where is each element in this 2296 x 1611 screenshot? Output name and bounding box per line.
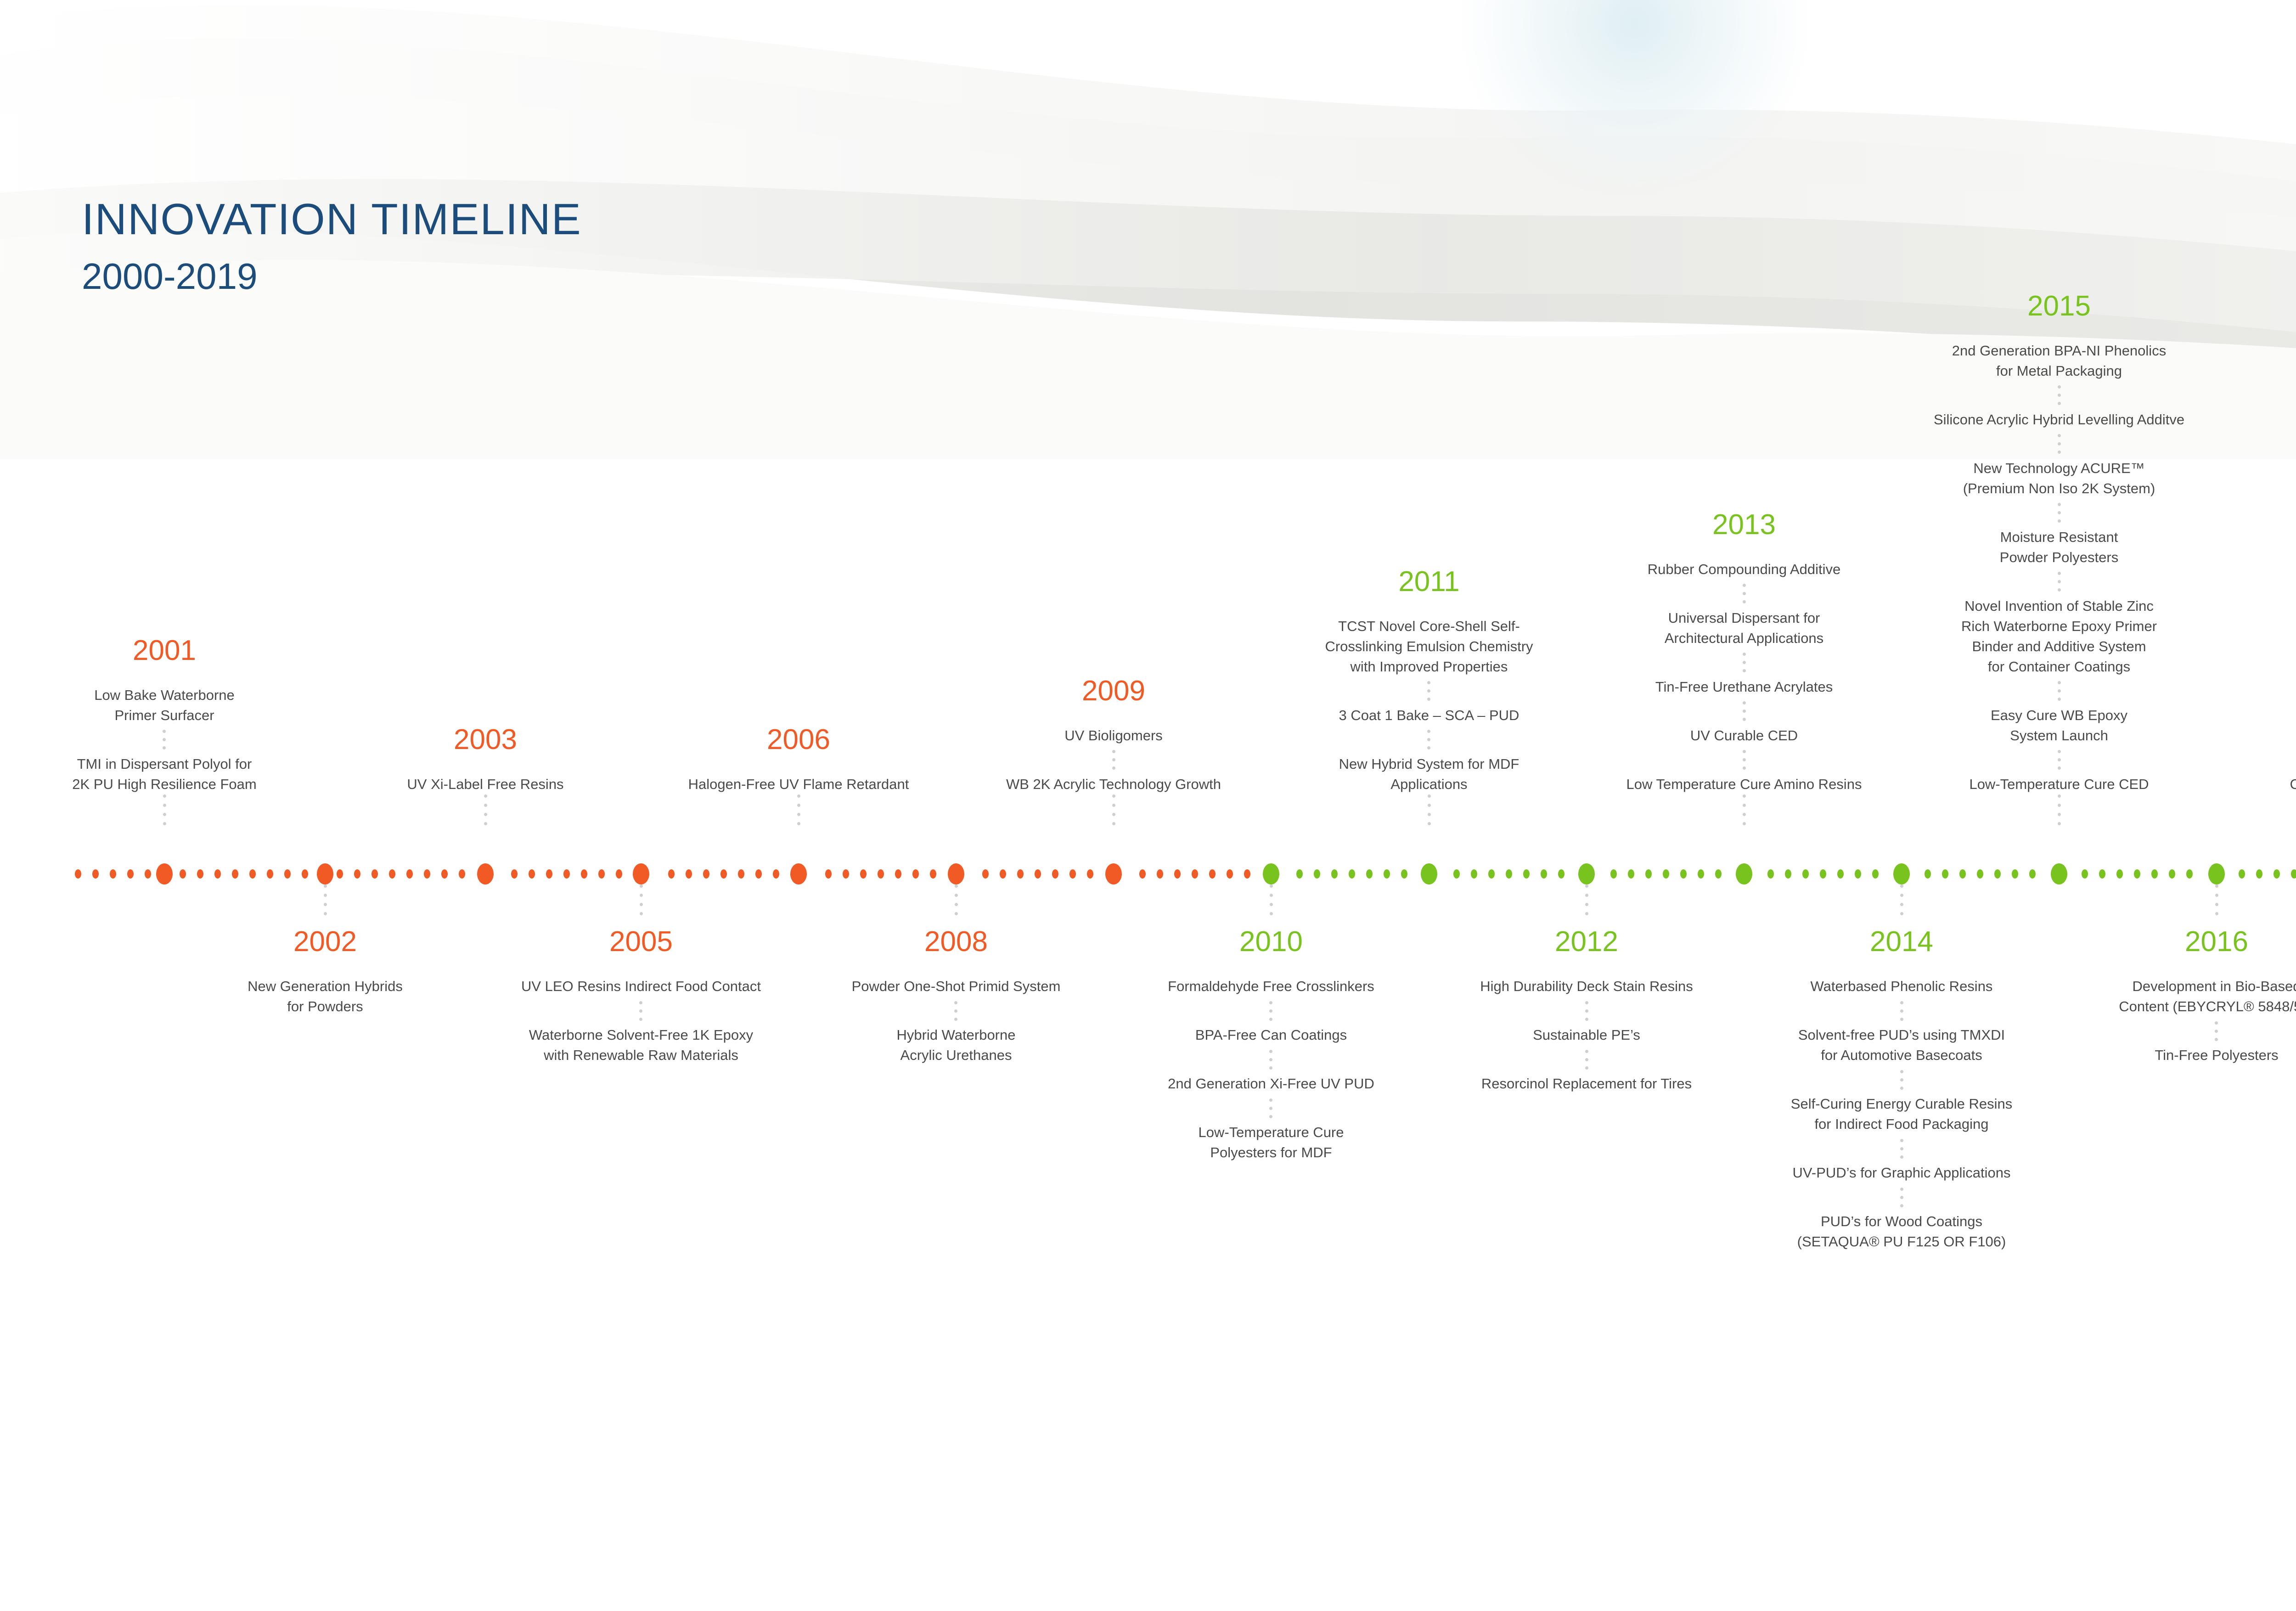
- event-list-2005: UV LEO Resins Indirect Food ContactWater…: [521, 976, 761, 1065]
- axis-tick-dot: [92, 869, 99, 879]
- axis-tick-dot: [546, 869, 552, 879]
- event-text: Resorcinol Replacement for Tires: [1480, 1074, 1693, 1094]
- connector-dot: [1743, 758, 1746, 761]
- connector-dot: [163, 822, 166, 825]
- year-label-2012: 2012: [1555, 928, 1618, 956]
- axis-tick-dot: [1715, 869, 1722, 879]
- axis-connector-2009: [1112, 794, 1115, 863]
- connector-dot: [1900, 1087, 1903, 1090]
- axis-tick-dot: [284, 869, 291, 879]
- axis-tick-dot: [1314, 869, 1320, 879]
- axis-tick-dot: [1488, 869, 1495, 879]
- connector-2015-3: [1934, 499, 2184, 527]
- axis-tick-dot: [1174, 869, 1181, 879]
- connector-dot: [163, 804, 166, 807]
- event-text: Universal Dispersant forArchitectural Ap…: [1626, 608, 1862, 648]
- axis-tick-dot: [75, 869, 81, 879]
- event-text: Cobalt-Free Drier Systems: [2290, 774, 2296, 794]
- timeline-entry-2010[interactable]: 2010Formaldehyde Free CrosslinkersBPA-Fr…: [1129, 928, 1413, 1163]
- axis-connector-2002: [324, 884, 327, 926]
- connector-dot: [955, 912, 958, 915]
- axis-tick-dot: [1942, 869, 1948, 879]
- connector-dot: [1270, 894, 1273, 897]
- timeline-axis: [0, 863, 2296, 884]
- axis-tick-dot: [1192, 869, 1198, 879]
- connector-2016-1: [2119, 1017, 2296, 1045]
- axis-connector-2008: [955, 884, 958, 926]
- connector-2005-1: [521, 997, 761, 1025]
- timeline-node-2003[interactable]: [477, 863, 494, 884]
- connector-dot: [1269, 1115, 1272, 1118]
- connector-dot: [1112, 758, 1115, 761]
- connector-dot: [2058, 511, 2061, 514]
- connector-dot: [1112, 794, 1115, 798]
- connector-dot: [2058, 689, 2061, 693]
- connector-dot: [1900, 884, 1903, 888]
- connector-dot: [1900, 1155, 1903, 1159]
- axis-tick-dot: [1035, 869, 1041, 879]
- event-text: Development in Bio-BasedContent (EBYCRYL…: [2119, 976, 2296, 1017]
- timeline-entry-2008[interactable]: 2008Powder One-Shot Primid SystemHybrid …: [837, 928, 1075, 1065]
- axis-tick-dot: [337, 869, 343, 879]
- connector-dot: [1269, 1050, 1272, 1053]
- axis-tick-dot: [686, 869, 692, 879]
- event-text: New Technology ACURE™(Premium Non Iso 2K…: [1934, 458, 2184, 499]
- connector-dot: [1900, 1009, 1903, 1013]
- connector-dot: [1427, 689, 1430, 693]
- connector-dot: [2215, 1021, 2218, 1025]
- timeline-entry-2016[interactable]: 2016Development in Bio-BasedContent (EBY…: [2074, 928, 2296, 1065]
- connector-2010-1: [1168, 997, 1374, 1025]
- axis-tick-dot: [2134, 869, 2140, 879]
- event-list-2014: Waterbased Phenolic ResinsSolvent-free P…: [1791, 976, 2012, 1252]
- connector-dot: [1585, 1066, 1588, 1070]
- axis-tick-dot: [1000, 869, 1006, 879]
- connector-dot: [2058, 794, 2061, 798]
- axis-tick-dot: [1994, 869, 2001, 879]
- timeline-entry-2017[interactable]: 2017Cobalt-Free Drier Systems: [2245, 0, 2296, 794]
- connector-dot: [2058, 385, 2061, 389]
- axis-tick-dot: [1628, 869, 1634, 879]
- connector-2012-1: [1480, 997, 1693, 1025]
- axis-tick-dot: [1837, 869, 1844, 879]
- event-text: Low Bake WaterbornePrimer Surfacer: [72, 685, 256, 726]
- connector-dot: [163, 794, 166, 798]
- timeline-node-2011[interactable]: [1421, 863, 1437, 884]
- axis-tick-dot: [1244, 869, 1250, 879]
- connector-dot: [1743, 669, 1746, 672]
- event-text: Solvent-free PUD’s using TMXDIfor Automo…: [1791, 1025, 2012, 1065]
- connector-dot: [954, 1009, 957, 1013]
- event-text: Waterbased Phenolic Resins: [1791, 976, 2012, 997]
- event-text: Rubber Compounding Additive: [1626, 559, 1862, 580]
- axis-tick-dot: [2273, 869, 2280, 879]
- connector-dot: [1427, 681, 1430, 684]
- connector-dot: [1900, 894, 1903, 897]
- connector-dot: [1900, 1188, 1903, 1191]
- timeline-entry-2002[interactable]: 2002New Generation Hybridsfor Powders: [206, 928, 445, 1017]
- connector-dot: [1900, 903, 1903, 906]
- connector-dot: [1900, 1147, 1903, 1150]
- axis-tick-dot: [1820, 869, 1826, 879]
- axis-tick-dot: [1785, 869, 1791, 879]
- timeline-node-2002[interactable]: [317, 863, 333, 884]
- event-text: Low Temperature Cure Amino Resins: [1626, 774, 1862, 794]
- connector-dot: [324, 912, 327, 915]
- event-list-2010: Formaldehyde Free CrosslinkersBPA-Free C…: [1168, 976, 1374, 1163]
- connector-dot: [1743, 661, 1746, 664]
- event-list-2003: UV Xi-Label Free Resins: [407, 774, 563, 794]
- connector-2010-3: [1168, 1094, 1374, 1122]
- axis-tick-dot: [860, 869, 867, 879]
- timeline-entry-2005[interactable]: 2005UV LEO Resins Indirect Food ContactW…: [480, 928, 802, 1065]
- connector-2013-2: [1626, 648, 1862, 677]
- connector-dot: [484, 813, 487, 816]
- timeline-node-2015[interactable]: [2051, 863, 2067, 884]
- connector-2014-3: [1791, 1134, 2012, 1163]
- timeline-entry-2003[interactable]: 2003UV Xi-Label Free Resins: [366, 0, 605, 794]
- connector-dot: [1585, 1058, 1588, 1061]
- axis-tick-dot: [1558, 869, 1564, 879]
- year-label-2001: 2001: [133, 637, 196, 665]
- axis-tick-dot: [1506, 869, 1512, 879]
- connector-dot: [1585, 1001, 1588, 1004]
- connector-dot: [1428, 794, 1431, 798]
- connector-dot: [1743, 822, 1746, 825]
- axis-tick-dot: [2012, 869, 2018, 879]
- axis-tick-dot: [1698, 869, 1704, 879]
- connector-dot: [640, 903, 643, 906]
- event-text: UV Xi-Label Free Resins: [407, 774, 563, 794]
- timeline-entry-2014[interactable]: 2014Waterbased Phenolic ResinsSolvent-fr…: [1755, 928, 2048, 1252]
- axis-tick-dot: [1680, 869, 1687, 879]
- connector-dot: [2058, 394, 2061, 397]
- connector-2010-2: [1168, 1045, 1374, 1074]
- axis-tick-dot: [267, 869, 273, 879]
- axis-tick-dot: [2151, 869, 2158, 879]
- connector-dot: [1427, 698, 1430, 701]
- axis-tick-dot: [1541, 869, 1547, 879]
- event-text: PUD’s for Wood Coatings(SETAQUA® PU F125…: [1791, 1211, 2012, 1252]
- connector-dot: [1900, 912, 1903, 915]
- axis-tick-dot: [825, 869, 832, 879]
- axis-tick-dot: [2186, 869, 2193, 879]
- event-list-2013: Rubber Compounding AdditiveUniversal Dis…: [1626, 559, 1862, 794]
- axis-connector-2003: [484, 794, 487, 863]
- axis-tick-dot: [197, 869, 203, 879]
- timeline-node-2012[interactable]: [1578, 863, 1595, 884]
- axis-tick-dot: [2116, 869, 2123, 879]
- axis-tick-dot: [598, 869, 605, 879]
- timeline-entry-2012[interactable]: 2012High Durability Deck Stain ResinsSus…: [1444, 928, 1729, 1094]
- connector-dot: [1585, 1018, 1588, 1021]
- connector-dot: [324, 894, 327, 897]
- timeline-entry-2006[interactable]: 2006Halogen-Free UV Flame Retardant: [670, 0, 927, 794]
- axis-tick-dot: [110, 869, 116, 879]
- connector-dot: [955, 903, 958, 906]
- axis-tick-dot: [1453, 869, 1460, 879]
- axis-tick-dot: [668, 869, 675, 879]
- timeline-node-2005[interactable]: [633, 863, 649, 884]
- connector-dot: [163, 738, 166, 741]
- connector-dot: [163, 813, 166, 816]
- event-list-2015: 2nd Generation BPA-NI Phenolicsfor Metal…: [1934, 341, 2184, 794]
- connector-dot: [2058, 588, 2061, 591]
- connector-dot: [1585, 1050, 1588, 1053]
- axis-tick-dot: [371, 869, 378, 879]
- connector-dot: [2058, 572, 2061, 575]
- connector-dot: [1585, 1009, 1588, 1013]
- axis-tick-dot: [1331, 869, 1338, 879]
- axis-connector-2016: [2215, 884, 2218, 926]
- connector-dot: [797, 822, 800, 825]
- event-list-2011: TCST Novel Core-Shell Self-Crosslinking …: [1325, 616, 1533, 794]
- connector-dot: [1585, 912, 1588, 915]
- connector-dot: [1427, 738, 1430, 741]
- axis-tick-dot: [1610, 869, 1617, 879]
- axis-connector-2013: [1743, 794, 1746, 863]
- connector-dot: [1428, 822, 1431, 825]
- axis-tick-dot: [1523, 869, 1530, 879]
- connector-dot: [955, 884, 958, 888]
- connector-2009-1: [1006, 746, 1221, 774]
- event-list-2008: Powder One-Shot Primid SystemHybrid Wate…: [852, 976, 1061, 1065]
- axis-tick-dot: [1296, 869, 1303, 879]
- connector-dot: [1269, 1009, 1272, 1013]
- connector-dot: [1270, 884, 1273, 888]
- axis-tick-dot: [581, 869, 587, 879]
- connector-dot: [1269, 1066, 1272, 1070]
- connector-2015-6: [1934, 746, 2184, 774]
- connector-dot: [1900, 1018, 1903, 1021]
- connector-dot: [484, 794, 487, 798]
- connector-dot: [1427, 746, 1430, 749]
- connector-dot: [1743, 600, 1746, 603]
- connector-dot: [1112, 813, 1115, 816]
- connector-2008-1: [852, 997, 1061, 1025]
- axis-tick-dot: [180, 869, 186, 879]
- axis-tick-dot: [232, 869, 238, 879]
- axis-tick-dot: [1069, 869, 1076, 879]
- year-label-2006: 2006: [767, 726, 830, 754]
- connector-dot: [2215, 1030, 2218, 1033]
- year-label-2014: 2014: [1870, 928, 1933, 956]
- connector-dot: [955, 894, 958, 897]
- connector-dot: [1743, 750, 1746, 753]
- event-text: UV-PUD’s for Graphic Applications: [1791, 1163, 2012, 1183]
- connector-dot: [1112, 750, 1115, 753]
- axis-tick-dot: [2082, 869, 2088, 879]
- connector-dot: [2058, 580, 2061, 583]
- connector-dot: [2058, 750, 2061, 753]
- connector-dot: [1112, 822, 1115, 825]
- connector-2012-2: [1480, 1045, 1693, 1074]
- axis-tick-dot: [1855, 869, 1861, 879]
- axis-tick-dot: [1209, 869, 1216, 879]
- event-list-2009: UV BioligomersWB 2K Acrylic Technology G…: [1006, 726, 1221, 794]
- event-text: Low-Temperature Cure CED: [1934, 774, 2184, 794]
- axis-connector-2010: [1270, 884, 1273, 926]
- connector-2014-4: [1791, 1183, 2012, 1211]
- timeline-entry-2011[interactable]: 2011TCST Novel Core-Shell Self-Crosslink…: [1287, 0, 1571, 794]
- connector-dot: [1743, 710, 1746, 713]
- axis-tick-dot: [616, 869, 622, 879]
- connector-dot: [2058, 503, 2061, 506]
- timeline-entry-2009[interactable]: 2009UV BioligomersWB 2K Acrylic Technolo…: [985, 0, 1242, 794]
- axis-connector-2011: [1428, 794, 1431, 863]
- event-list-2006: Halogen-Free UV Flame Retardant: [688, 774, 909, 794]
- timeline-entry-2013[interactable]: 2013Rubber Compounding AdditiveUniversal…: [1597, 0, 1891, 794]
- connector-dot: [639, 1009, 642, 1013]
- connector-dot: [797, 804, 800, 807]
- timeline-entry-2001[interactable]: 2001Low Bake WaterbornePrimer SurfacerTM…: [36, 0, 293, 794]
- connector-dot: [1743, 653, 1746, 656]
- axis-tick-dot: [930, 869, 936, 879]
- timeline-node-2008[interactable]: [948, 863, 964, 884]
- event-text: New Hybrid System for MDFApplications: [1325, 754, 1533, 794]
- connector-dot: [1428, 804, 1431, 807]
- connector-dot: [324, 884, 327, 888]
- axis-tick-dot: [2029, 869, 2036, 879]
- connector-dot: [954, 1018, 957, 1021]
- connector-dot: [2215, 1038, 2218, 1041]
- axis-tick-dot: [1139, 869, 1146, 879]
- connector-dot: [2058, 402, 2061, 405]
- connector-dot: [2058, 519, 2061, 523]
- connector-dot: [1743, 766, 1746, 770]
- connector-dot: [1900, 1196, 1903, 1199]
- connector-dot: [1112, 804, 1115, 807]
- axis-tick-dot: [720, 869, 727, 879]
- connector-dot: [1269, 1018, 1272, 1021]
- connector-dot: [2058, 813, 2061, 816]
- axis-tick-dot: [2291, 869, 2296, 879]
- timeline-node-2016[interactable]: [2208, 863, 2225, 884]
- connector-2001-1: [72, 726, 256, 754]
- timeline-node-2010[interactable]: [1263, 863, 1279, 884]
- connector-2014-1: [1791, 997, 2012, 1025]
- axis-connector-2006: [797, 794, 800, 863]
- connector-dot: [1585, 894, 1588, 897]
- axis-tick-dot: [249, 869, 256, 879]
- axis-tick-dot: [2256, 869, 2262, 879]
- connector-dot: [640, 912, 643, 915]
- axis-tick-dot: [2169, 869, 2175, 879]
- axis-tick-dot: [2239, 869, 2245, 879]
- event-list-2002: New Generation Hybridsfor Powders: [248, 976, 403, 1017]
- axis-tick-dot: [511, 869, 518, 879]
- axis-connector-2012: [1585, 884, 1588, 926]
- connector-2015-1: [1934, 381, 2184, 410]
- axis-tick-dot: [145, 869, 151, 879]
- axis-tick-dot: [1017, 869, 1024, 879]
- event-text: TMI in Dispersant Polyol for2K PU High R…: [72, 754, 256, 794]
- axis-tick-dot: [1645, 869, 1652, 879]
- connector-dot: [2058, 766, 2061, 770]
- event-text: Formaldehyde Free Crosslinkers: [1168, 976, 1374, 997]
- axis-tick-dot: [1471, 869, 1477, 879]
- event-text: Novel Invention of Stable ZincRich Water…: [1934, 596, 2184, 677]
- connector-dot: [2058, 698, 2061, 701]
- connector-dot: [1427, 730, 1430, 733]
- axis-tick-dot: [2099, 869, 2105, 879]
- axis-tick-dot: [424, 869, 430, 879]
- timeline-node-2013[interactable]: [1736, 863, 1752, 884]
- connector-dot: [2058, 681, 2061, 684]
- connector-dot: [1900, 1001, 1903, 1004]
- axis-tick-dot: [1663, 869, 1669, 879]
- timeline-infographic: INNOVATION TIMELINE 2000-2019 2001Low Ba…: [0, 0, 2296, 1611]
- event-list-2012: High Durability Deck Stain ResinsSustain…: [1480, 976, 1693, 1094]
- connector-dot: [797, 794, 800, 798]
- connector-dot: [1900, 1204, 1903, 1207]
- connector-dot: [2058, 434, 2061, 437]
- axis-tick-dot: [843, 869, 849, 879]
- event-text: Halogen-Free UV Flame Retardant: [688, 774, 909, 794]
- year-label-2011: 2011: [1398, 568, 1459, 596]
- axis-tick-dot: [878, 869, 884, 879]
- connector-2011-1: [1325, 677, 1533, 705]
- connector-dot: [1270, 912, 1273, 915]
- connector-dot: [2058, 822, 2061, 825]
- axis-tick-dot: [459, 869, 465, 879]
- connector-dot: [1900, 1070, 1903, 1073]
- event-text: Silicone Acrylic Hybrid Levelling Additv…: [1934, 410, 2184, 430]
- connector-dot: [639, 1001, 642, 1004]
- connector-dot: [2058, 451, 2061, 454]
- event-text: Self-Curing Energy Curable Resinsfor Ind…: [1791, 1094, 2012, 1134]
- timeline-node-2009[interactable]: [1105, 863, 1122, 884]
- timeline-node-2014[interactable]: [1893, 863, 1910, 884]
- year-label-2009: 2009: [1082, 677, 1145, 705]
- connector-dot: [2215, 894, 2218, 897]
- axis-tick-dot: [703, 869, 709, 879]
- connector-2014-2: [1791, 1065, 2012, 1094]
- timeline-entry-2015[interactable]: 20152nd Generation BPA-NI Phenolicsfor M…: [1898, 0, 2220, 794]
- axis-tick-dot: [389, 869, 395, 879]
- axis-tick-dot: [1349, 869, 1355, 879]
- connector-dot: [324, 903, 327, 906]
- connector-dot: [163, 746, 166, 749]
- axis-tick-dot: [912, 869, 919, 879]
- event-text: Waterborne Solvent-Free 1K Epoxywith Ren…: [521, 1025, 761, 1065]
- connector-dot: [1269, 1098, 1272, 1102]
- connector-dot: [2215, 912, 2218, 915]
- axis-tick-dot: [1087, 869, 1093, 879]
- connector-dot: [640, 884, 643, 888]
- connector-dot: [2058, 804, 2061, 807]
- axis-tick-dot: [755, 869, 762, 879]
- event-list-2017: Cobalt-Free Drier Systems: [2290, 774, 2296, 794]
- event-text: UV LEO Resins Indirect Food Contact: [521, 976, 761, 997]
- timeline-node-2001[interactable]: [156, 863, 173, 884]
- event-text: 2nd Generation Xi-Free UV PUD: [1168, 1074, 1374, 1094]
- timeline-node-2006[interactable]: [790, 863, 807, 884]
- connector-2013-3: [1626, 697, 1862, 726]
- axis-tick-dot: [563, 869, 570, 879]
- event-text: High Durability Deck Stain Resins: [1480, 976, 1693, 997]
- connector-dot: [2215, 903, 2218, 906]
- event-list-2016: Development in Bio-BasedContent (EBYCRYL…: [2119, 976, 2296, 1065]
- connector-2015-2: [1934, 430, 2184, 458]
- event-text: 3 Coat 1 Bake – SCA – PUD: [1325, 705, 1533, 726]
- axis-tick-dot: [982, 869, 989, 879]
- connector-dot: [1269, 1058, 1272, 1061]
- event-text: Low-Temperature CurePolyesters for MDF: [1168, 1122, 1374, 1163]
- event-text: UV Curable CED: [1626, 726, 1862, 746]
- axis-connector-2015: [2058, 794, 2061, 863]
- axis-tick-dot: [738, 869, 744, 879]
